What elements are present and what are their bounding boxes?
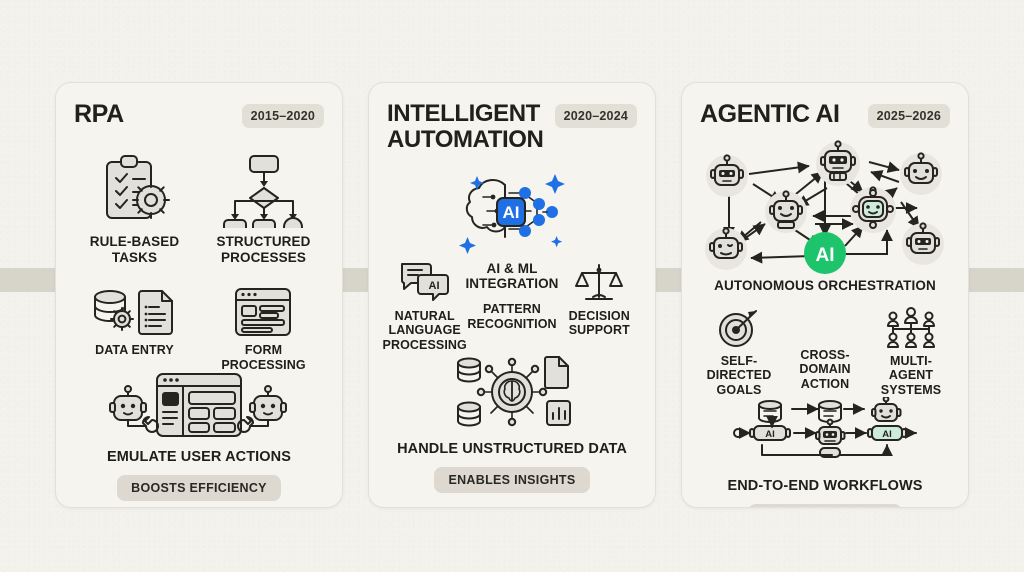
feature-natural-language-processing[interactable]: AI NATURAL LANGUAGE PROCESSING	[385, 261, 465, 353]
svg-text:AI: AI	[765, 429, 775, 440]
feature-label: FORM PROCESSING	[204, 343, 323, 372]
rpa-feature-row-1: RULE-BASED TASKS ST	[70, 154, 328, 265]
outcome-pill: DRIVES OUTCOMES	[748, 504, 903, 508]
feature-label: MULTI-AGENT SYSTEMS	[868, 354, 953, 398]
highlight-label: EMULATE USER ACTIONS	[107, 449, 291, 466]
robots-browser-icon	[104, 372, 294, 440]
chat-bubbles-ai-icon: AI	[399, 261, 451, 303]
workflow-pipeline-icon: AI	[732, 397, 918, 469]
card-agentic-body: AI AUTONOMOUS ORCHESTRATION SELF-DIRECTE…	[696, 128, 954, 508]
flowchart-icon	[222, 154, 304, 228]
card-agentic-header: AGENTIC AI 2025–2026	[696, 101, 954, 128]
svg-text:AI: AI	[882, 429, 892, 440]
brain-ai-chip-icon: AI	[453, 167, 571, 257]
agent-node	[900, 153, 942, 195]
feature-label: AI & ML INTEGRATION	[465, 261, 558, 292]
feature-cross-domain-action[interactable]: CROSS-DOMAIN ACTION	[782, 306, 867, 392]
ia-feature-row: AI NATURAL LANGUAGE PROCESSING AI & ML I…	[383, 261, 641, 353]
ia-hero: AI	[383, 167, 641, 257]
svg-text:AI: AI	[428, 280, 439, 292]
feature-multi-agent-systems[interactable]: MULTI-AGENT SYSTEMS	[868, 306, 953, 398]
highlight-label: END-TO-END WORKFLOWS	[727, 478, 922, 495]
agent-node	[706, 155, 748, 197]
feature-label: DATA ENTRY	[95, 343, 174, 358]
target-arrow-icon	[716, 306, 762, 348]
svg-text:AI: AI	[503, 203, 520, 222]
feature-form-processing[interactable]: FORM PROCESSING	[204, 287, 323, 372]
outcome-pill: ENABLES INSIGHTS	[434, 467, 589, 493]
rpa-feature-row-2: DATA ENTRY FORM PRO	[70, 287, 328, 372]
ia-footer: HANDLE UNSTRUCTURED DATA ENABLES INSIGHT…	[383, 354, 641, 493]
clipboard-gear-icon	[95, 154, 173, 228]
rpa-footer: EMULATE USER ACTIONS BOOSTS EFFICIENCY	[70, 372, 328, 501]
card-ia-era-badge: 2020–2024	[555, 104, 637, 128]
card-ia-header: INTELLIGENT AUTOMATION 2020–2024	[383, 101, 641, 153]
feature-label: AUTONOMOUS ORCHESTRATION	[714, 278, 936, 294]
feature-self-directed-goals[interactable]: SELF-DIRECTED GOALS	[696, 306, 781, 398]
feature-rule-based-tasks[interactable]: RULE-BASED TASKS	[75, 154, 194, 265]
feature-label: SELF-DIRECTED GOALS	[696, 354, 781, 398]
feature-label: PATTERN RECOGNITION	[467, 302, 556, 331]
feature-data-entry[interactable]: DATA ENTRY	[75, 287, 194, 358]
highlight-label: HANDLE UNSTRUCTURED DATA	[397, 441, 627, 458]
feature-label: STRUCTURED PROCESSES	[204, 234, 323, 265]
card-rpa[interactable]: RPA 2015–2020	[55, 82, 343, 508]
feature-ai-ml-integration[interactable]: AI & ML INTEGRATION PATTERN RECOGNITION	[468, 261, 556, 331]
outcome-pill: BOOSTS EFFICIENCY	[117, 475, 281, 501]
svg-text:AI: AI	[816, 245, 835, 266]
form-window-icon	[234, 287, 292, 337]
feature-label: RULE-BASED TASKS	[75, 234, 194, 265]
cards-stage: RPA 2015–2020	[0, 0, 1024, 572]
card-rpa-header: RPA 2015–2020	[70, 101, 328, 128]
agentic-footer: AI	[696, 397, 954, 508]
agent-node	[850, 187, 896, 233]
agent-node	[902, 223, 944, 265]
data-hub-brain-icon	[452, 354, 572, 432]
agent-node	[816, 141, 860, 186]
agent-node	[765, 191, 807, 233]
card-intelligent-automation[interactable]: INTELLIGENT AUTOMATION 2020–2024	[368, 82, 656, 508]
card-ia-title: INTELLIGENT AUTOMATION	[387, 101, 547, 153]
card-agentic-ai[interactable]: AGENTIC AI 2025–2026	[681, 82, 969, 508]
agentic-feature-row: SELF-DIRECTED GOALS CROSS-DOMAIN ACTION	[696, 306, 954, 398]
agent-node	[705, 228, 747, 270]
feature-label: DECISION SUPPORT	[559, 309, 639, 338]
feature-decision-support[interactable]: DECISION SUPPORT	[559, 261, 639, 338]
card-rpa-title: RPA	[74, 101, 124, 128]
card-rpa-era-badge: 2015–2020	[242, 104, 324, 128]
card-rpa-body: RULE-BASED TASKS ST	[70, 128, 328, 501]
feature-label: CROSS-DOMAIN ACTION	[782, 348, 867, 392]
agent-network-icon: AI	[693, 136, 957, 276]
card-ia-body: AI AI NATURAL LANGUAGE PROCESSING	[383, 153, 641, 493]
feature-label: NATURAL LANGUAGE PROCESSING	[383, 309, 467, 353]
card-agentic-title: AGENTIC AI	[700, 101, 840, 128]
org-chart-people-icon	[884, 306, 938, 348]
database-document-icon	[88, 287, 180, 337]
scales-icon	[574, 261, 624, 303]
feature-structured-processes[interactable]: STRUCTURED PROCESSES	[204, 154, 323, 265]
card-agentic-era-badge: 2025–2026	[868, 104, 950, 128]
